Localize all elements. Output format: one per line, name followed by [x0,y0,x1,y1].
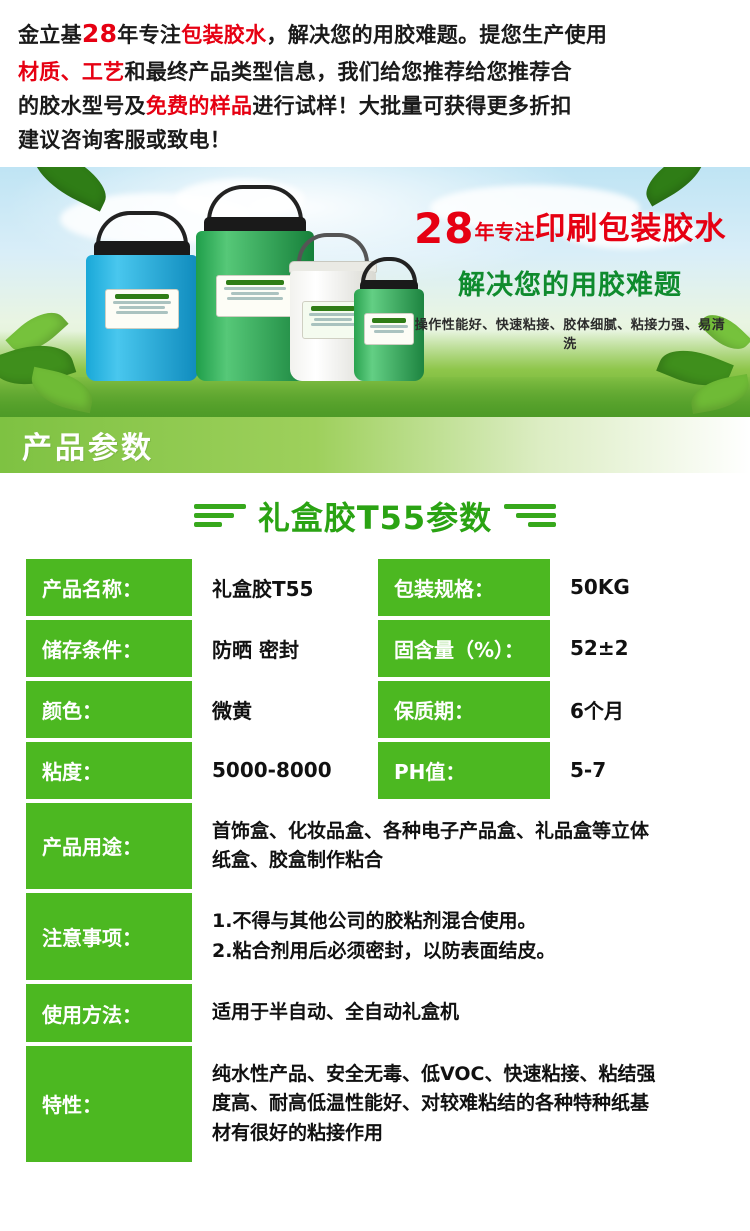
section-header-product-parameters: 产品参数 [0,417,750,473]
hero-banner: 28年专注印刷包装胶水 解决您的用胶难题 操作性能好、快速粘接、胶体细腻、粘接力… [0,167,750,417]
page-title: 礼盒胶T55参数 [258,493,492,539]
intro-line-2: 材质、工艺和最终产品类型信息，我们给您推荐给您推荐合 [18,55,732,89]
param-key: 包装规格： [378,559,550,616]
param-value: 防晒 密封 [196,620,374,677]
intro-line-3: 的胶水型号及免费的样品进行试样！大批量可获得更多折扣 [18,89,732,123]
banner-headline-row: 28年专注印刷包装胶水 [414,203,726,253]
param-value: 纯水性产品、安全无毒、低VOC、快速粘接、粘结强 度高、耐高低温性能好、对较难粘… [196,1046,724,1162]
banner-features: 操作性能好、快速粘接、胶体细腻、粘接力强、易清洗 [414,314,726,352]
intro-line2-tail: 和最终产品类型信息，我们给您推荐给您推荐合 [125,60,572,84]
intro-line1-tail: ，解决您的用胶难题。提您生产使用 [266,23,607,47]
title-decoration-left [194,504,246,527]
param-value: 5000-8000 [196,742,374,799]
intro-years-suffix: 年专注 [117,23,181,47]
table-row: 储存条件： 防晒 密封 固含量（%）： 52±2 [26,620,724,677]
bucket-label [105,289,179,329]
table-row: 粘度： 5000-8000 PH值： 5-7 [26,742,724,799]
bucket-body [86,255,198,381]
param-key: 固含量（%）： [378,620,550,677]
param-value: 首饰盒、化妆品盒、各种电子产品盒、礼品盒等立体 纸盒、胶盒制作粘合 [196,803,724,890]
param-key: 保质期： [378,681,550,738]
param-value: 礼盒胶T55 [196,559,374,616]
title-decoration-right [504,504,556,527]
param-key: 储存条件： [26,620,192,677]
param-key: 产品名称： [26,559,192,616]
param-value-line: 纯水性产品、安全无毒、低VOC、快速粘接、粘结强 [212,1060,714,1089]
param-value: 52±2 [554,620,724,677]
banner-text-block: 28年专注印刷包装胶水 解决您的用胶难题 操作性能好、快速粘接、胶体细腻、粘接力… [414,203,726,352]
table-row: 产品用途： 首饰盒、化妆品盒、各种电子产品盒、礼品盒等立体 纸盒、胶盒制作粘合 [26,803,724,890]
table-row: 颜色： 微黄 保质期： 6个月 [26,681,724,738]
param-key: 产品用途： [26,803,192,890]
banner-years-number: 28 [414,204,474,253]
param-key: 特性： [26,1046,192,1162]
param-value-line: 1.不得与其他公司的胶粘剂混合使用。 [212,907,714,936]
bucket-label [216,275,294,317]
table-row: 注意事项： 1.不得与其他公司的胶粘剂混合使用。 2.粘合剂用后必须密封，以防表… [26,893,724,980]
banner-headline: 印刷包装胶水 [534,211,726,247]
param-key: 粘度： [26,742,192,799]
param-value: 1.不得与其他公司的胶粘剂混合使用。 2.粘合剂用后必须密封，以防表面结皮。 [196,893,724,980]
bucket-label [364,313,414,345]
intro-line3-tail: 进行试样！大批量可获得更多折扣 [252,94,572,118]
param-value-line: 首饰盒、化妆品盒、各种电子产品盒、礼品盒等立体 [212,817,714,846]
param-value-line: 材有很好的粘接作用 [212,1119,714,1148]
grass-field-dark [0,377,750,417]
param-value-line: 2.粘合剂用后必须密封，以防表面结皮。 [212,937,714,966]
intro-line-4: 建议咨询客服或致电！ [18,123,732,157]
param-value: 5-7 [554,742,724,799]
intro-brand: 金立基 [18,23,82,47]
intro-highlight-packaging-glue: 包装胶水 [181,23,266,47]
intro-highlight-free-sample: 免费的样品 [146,94,253,118]
param-value-line: 纸盒、胶盒制作粘合 [212,846,714,875]
param-value: 6个月 [554,681,724,738]
intro-years-number: 28 [82,19,117,48]
intro-line3-head: 的胶水型号及 [18,94,146,118]
banner-subline: 解决您的用胶难题 [414,263,726,302]
table-row: 特性： 纯水性产品、安全无毒、低VOC、快速粘接、粘结强 度高、耐高低温性能好、… [26,1046,724,1162]
param-key: PH值： [378,742,550,799]
product-bucket-blue [86,255,198,381]
intro-line-1: 金立基28年专注包装胶水，解决您的用胶难题。提您生产使用 [18,14,732,55]
product-detail-page: 金立基28年专注包装胶水，解决您的用胶难题。提您生产使用 材质、工艺和最终产品类… [0,0,750,1192]
banner-years-suffix: 年专注 [474,220,534,244]
param-value: 50KG [554,559,724,616]
parameters-title-row: 礼盒胶T55参数 [0,473,750,555]
intro-paragraph: 金立基28年专注包装胶水，解决您的用胶难题。提您生产使用 材质、工艺和最终产品类… [0,0,750,167]
table-row: 产品名称： 礼盒胶T55 包装规格： 50KG [26,559,724,616]
parameters-table: 产品名称： 礼盒胶T55 包装规格： 50KG 储存条件： 防晒 密封 固含量（… [22,555,728,1167]
param-key: 颜色： [26,681,192,738]
table-row: 使用方法： 适用于半自动、全自动礼盒机 [26,984,724,1041]
param-value: 微黄 [196,681,374,738]
param-value-line: 度高、耐高低温性能好、对较难粘结的各种特种纸基 [212,1089,714,1118]
param-value-line: 适用于半自动、全自动礼盒机 [212,998,714,1027]
section-header-label: 产品参数 [22,423,154,467]
param-key: 注意事项： [26,893,192,980]
param-key: 使用方法： [26,984,192,1041]
intro-highlight-material-process: 材质、工艺 [18,60,125,84]
param-value: 适用于半自动、全自动礼盒机 [196,984,724,1041]
